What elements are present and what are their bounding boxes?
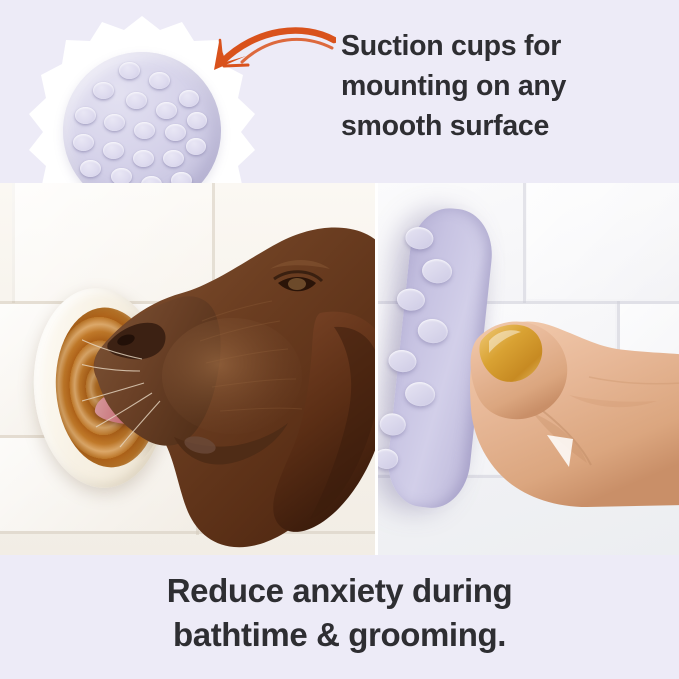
promo-infographic: Suction cups for mounting on any smooth …: [0, 0, 679, 679]
suction-cup: [104, 114, 125, 131]
hand: [437, 283, 679, 513]
suction-cup: [186, 138, 206, 155]
suction-cup: [93, 82, 114, 99]
tile-face: [527, 183, 679, 299]
dog-licking-mat-photo: [0, 183, 377, 555]
suction-cup: [165, 124, 186, 141]
subhead-line-2: bathtime & grooming.: [0, 613, 679, 657]
subhead-line-1: Reduce anxiety during: [0, 569, 679, 613]
suction-cup: [156, 102, 177, 119]
suction-cup: [103, 142, 124, 159]
suction-cup: [421, 258, 453, 285]
suction-cup: [73, 134, 94, 151]
headline-line-1: Suction cups for: [341, 26, 661, 66]
suction-cup: [134, 122, 155, 139]
suction-cup: [404, 381, 436, 408]
suction-cup: [163, 150, 184, 167]
curved-arrow-icon: [186, 18, 336, 90]
suction-cup: [187, 112, 207, 129]
headline-line-3: smooth surface: [341, 106, 661, 146]
panel-divider: [375, 183, 378, 555]
suction-cup: [75, 107, 96, 124]
hand-pressing-pad-photo: [377, 183, 679, 555]
suction-cup: [133, 150, 154, 167]
suction-cup: [126, 92, 147, 109]
subhead-text: Reduce anxiety during bathtime & groomin…: [0, 569, 679, 657]
suction-cup: [179, 90, 199, 107]
suction-cup: [149, 72, 170, 89]
bottom-banner: Reduce anxiety during bathtime & groomin…: [0, 555, 679, 679]
suction-cup: [119, 62, 140, 79]
headline-line-2: mounting on any: [341, 66, 661, 106]
suction-cup: [377, 448, 399, 470]
dog-head: [82, 201, 377, 555]
headline-text: Suction cups for mounting on any smooth …: [341, 26, 661, 146]
suction-cup: [80, 160, 101, 177]
top-banner: Suction cups for mounting on any smooth …: [0, 0, 679, 183]
photo-strip: [0, 183, 679, 555]
